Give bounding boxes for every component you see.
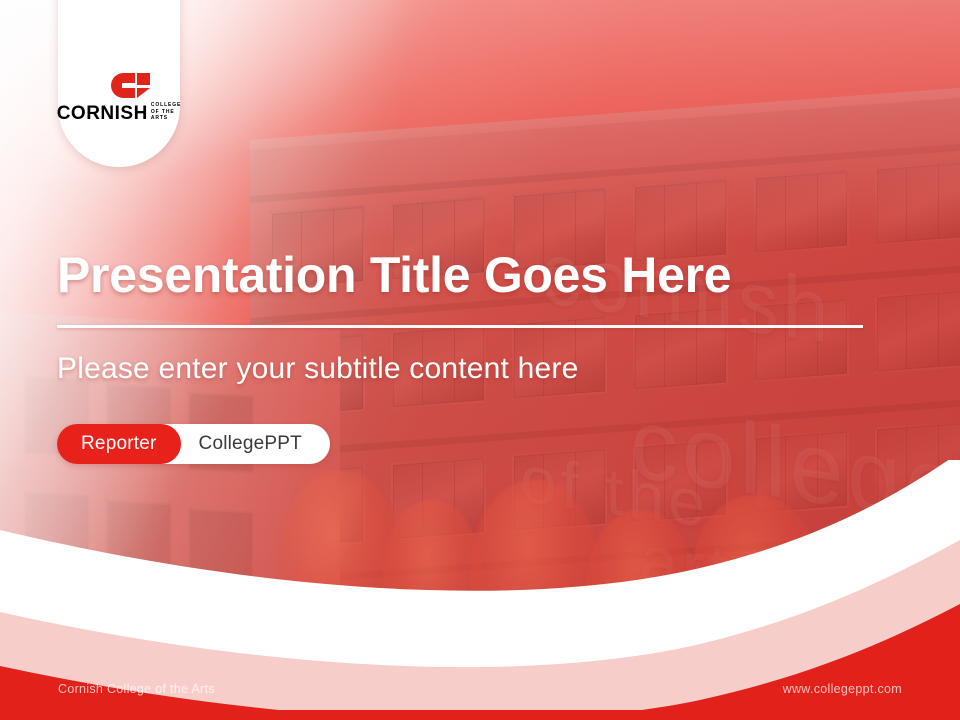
logo-cornish-text: CORNISH <box>57 104 148 123</box>
logo-subtext-line-1: COLLEGE <box>151 102 181 109</box>
reporter-field[interactable]: Reporter CollegePPT <box>57 424 330 464</box>
page-subtitle: Please enter your subtitle content here <box>57 352 578 386</box>
logo-wordmark: CORNISH COLLEGE OF THE ARTS <box>57 102 182 123</box>
footer-website[interactable]: www.collegeppt.com <box>783 682 902 696</box>
logo-subtext: COLLEGE OF THE ARTS <box>151 102 181 123</box>
logo-badge: CORNISH COLLEGE OF THE ARTS <box>58 0 180 167</box>
footer: Cornish College of the Arts www.collegep… <box>0 658 960 720</box>
cornish-c-mark-icon <box>111 73 151 99</box>
reporter-value[interactable]: CollegePPT <box>181 433 324 455</box>
reporter-label: Reporter <box>57 424 181 464</box>
logo-subtext-line-2: OF THE ARTS <box>151 109 181 123</box>
mark-square-shape <box>137 73 150 85</box>
mark-triangle-shape <box>137 88 150 98</box>
page-title: Presentation Title Goes Here <box>57 248 907 303</box>
mark-c-shape <box>111 73 135 98</box>
presentation-slide: cornish college of the arts CORNISH COLL… <box>0 0 960 720</box>
footer-institution: Cornish College of the Arts <box>58 682 215 696</box>
title-divider <box>57 325 863 328</box>
